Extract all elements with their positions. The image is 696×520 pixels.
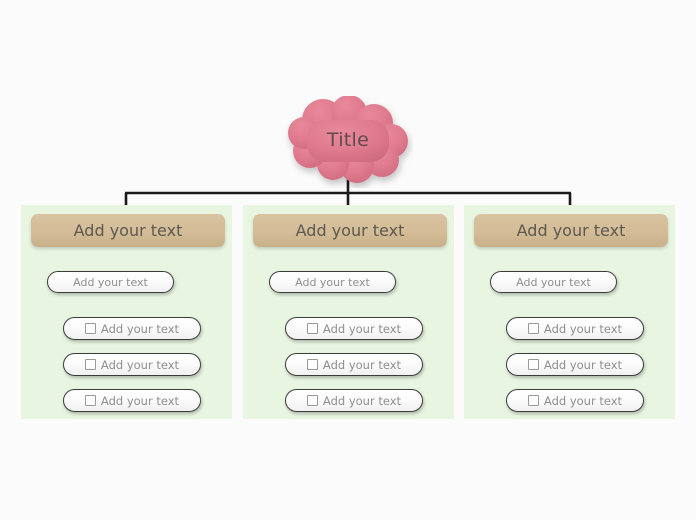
list-item[interactable]: Add your text bbox=[285, 317, 423, 340]
list-item[interactable]: Add your text bbox=[506, 389, 644, 412]
column-panel-2: Add your text Add your text Add your tex… bbox=[243, 205, 454, 419]
column-header-1[interactable]: Add your text bbox=[31, 214, 225, 247]
list-item-label: Add your text bbox=[101, 322, 179, 336]
column-subhead-3[interactable]: Add your text bbox=[490, 271, 617, 293]
list-item-label: Add your text bbox=[544, 322, 622, 336]
checkbox-unchecked-icon[interactable] bbox=[85, 323, 96, 334]
checkbox-unchecked-icon[interactable] bbox=[85, 395, 96, 406]
list-item[interactable]: Add your text bbox=[285, 389, 423, 412]
checkbox-unchecked-icon[interactable] bbox=[307, 323, 318, 334]
list-item-label: Add your text bbox=[544, 358, 622, 372]
list-item-label: Add your text bbox=[101, 394, 179, 408]
list-item[interactable]: Add your text bbox=[63, 353, 201, 376]
root-cloud-node[interactable]: Title bbox=[283, 96, 413, 188]
checkbox-unchecked-icon[interactable] bbox=[85, 359, 96, 370]
list-item[interactable]: Add your text bbox=[285, 353, 423, 376]
column-subhead-label-2: Add your text bbox=[295, 276, 370, 289]
checkbox-unchecked-icon[interactable] bbox=[528, 395, 539, 406]
diagram-canvas: Title Add your text Add your text Add yo… bbox=[0, 0, 696, 520]
list-item-label: Add your text bbox=[544, 394, 622, 408]
list-item[interactable]: Add your text bbox=[506, 317, 644, 340]
column-header-2[interactable]: Add your text bbox=[253, 214, 447, 247]
column-subhead-1[interactable]: Add your text bbox=[47, 271, 174, 293]
list-item[interactable]: Add your text bbox=[506, 353, 644, 376]
column-subhead-label-1: Add your text bbox=[73, 276, 148, 289]
column-subhead-label-3: Add your text bbox=[516, 276, 591, 289]
column-panel-3: Add your text Add your text Add your tex… bbox=[464, 205, 675, 419]
column-subhead-2[interactable]: Add your text bbox=[269, 271, 396, 293]
checkbox-unchecked-icon[interactable] bbox=[307, 395, 318, 406]
list-item-label: Add your text bbox=[323, 322, 401, 336]
list-item-label: Add your text bbox=[323, 358, 401, 372]
root-title-label: Title bbox=[283, 96, 413, 188]
list-item[interactable]: Add your text bbox=[63, 317, 201, 340]
list-item[interactable]: Add your text bbox=[63, 389, 201, 412]
list-item-label: Add your text bbox=[323, 394, 401, 408]
list-item-label: Add your text bbox=[101, 358, 179, 372]
checkbox-unchecked-icon[interactable] bbox=[528, 359, 539, 370]
column-panel-1: Add your text Add your text Add your tex… bbox=[21, 205, 232, 419]
checkbox-unchecked-icon[interactable] bbox=[528, 323, 539, 334]
checkbox-unchecked-icon[interactable] bbox=[307, 359, 318, 370]
column-header-3[interactable]: Add your text bbox=[474, 214, 668, 247]
